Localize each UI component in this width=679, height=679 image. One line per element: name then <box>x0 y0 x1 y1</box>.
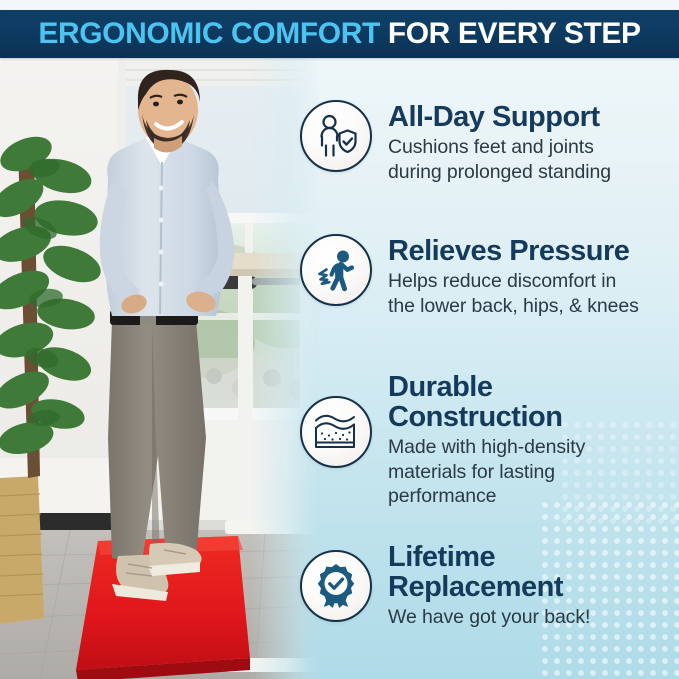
feature-text-block: All-Day Support Cushions feet and joints… <box>388 100 611 184</box>
feature-title: Relieves Pressure <box>388 236 639 266</box>
headline-accent: ERGONOMIC COMFORT <box>38 17 380 50</box>
feature-text-block: Lifetime Replacement We have got your ba… <box>388 540 590 630</box>
feature-item-durable-construction: Durable Construction Made with high-dens… <box>300 370 679 509</box>
feature-text-block: Relieves Pressure Helps reduce discomfor… <box>388 234 639 318</box>
headline-plain: FOR EVERY STEP <box>380 17 641 50</box>
feature-item-lifetime-replacement: Lifetime Replacement We have got your ba… <box>300 540 679 630</box>
feature-body: Helps reduce discomfort in the lower bac… <box>388 269 639 318</box>
feature-item-relieves-pressure: Relieves Pressure Helps reduce discomfor… <box>300 234 679 318</box>
feature-body: Made with high-density materials for las… <box>388 435 585 509</box>
feature-title: Lifetime Replacement <box>388 542 590 602</box>
headline-text: ERGONOMIC COMFORT FOR EVERY STEP <box>38 19 640 49</box>
feature-text-block: Durable Construction Made with high-dens… <box>388 370 585 509</box>
person-shield-icon <box>300 100 372 172</box>
feature-body: Cushions feet and joints during prolonge… <box>388 135 611 184</box>
foam-layers-icon <box>300 396 372 468</box>
headline-banner: ERGONOMIC COMFORT FOR EVERY STEP <box>0 10 679 58</box>
feature-body: We have got your back! <box>388 605 590 630</box>
feature-title: All-Day Support <box>388 102 611 132</box>
award-badge-icon <box>300 550 372 622</box>
infographic-poster: ERGONOMIC COMFORT FOR EVERY STEP All-Day… <box>0 0 679 679</box>
product-lifestyle-photo <box>0 58 320 679</box>
feature-item-all-day-support: All-Day Support Cushions feet and joints… <box>300 100 679 184</box>
feature-title: Durable Construction <box>388 372 585 432</box>
feature-list: All-Day Support Cushions feet and joints… <box>300 62 679 679</box>
back-pain-person-icon <box>300 234 372 306</box>
